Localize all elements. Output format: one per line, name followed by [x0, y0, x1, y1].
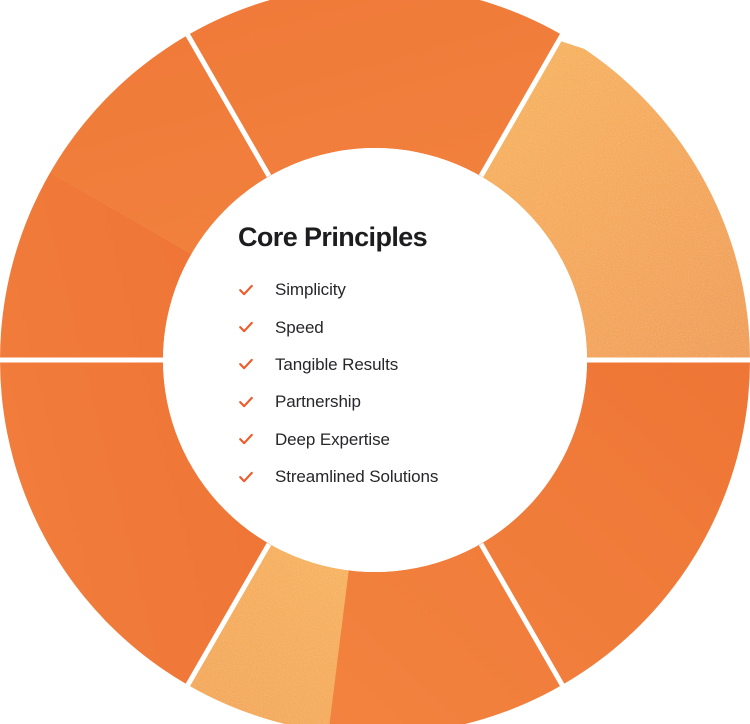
list-item-label: Deep Expertise — [275, 431, 390, 448]
principles-list: Simplicity Speed Tangible Results — [238, 271, 538, 495]
list-item[interactable]: Tangible Results — [238, 346, 538, 383]
check-icon — [238, 431, 254, 447]
check-icon — [238, 282, 254, 298]
list-item[interactable]: Simplicity — [238, 271, 538, 308]
list-item[interactable]: Partnership — [238, 383, 538, 420]
check-icon — [238, 356, 254, 372]
list-item-label: Streamlined Solutions — [275, 468, 438, 485]
list-item[interactable]: Deep Expertise — [238, 421, 538, 458]
donut-infographic: Core Principles Simplicity Speed — [0, 0, 750, 724]
list-item-label: Speed — [275, 319, 324, 336]
list-item-label: Tangible Results — [275, 356, 398, 373]
check-icon — [238, 469, 254, 485]
list-item[interactable]: Speed — [238, 308, 538, 345]
center-panel-content: Core Principles Simplicity Speed — [238, 224, 538, 495]
page-title: Core Principles — [238, 224, 538, 251]
list-item-label: Partnership — [275, 393, 361, 410]
check-icon — [238, 319, 254, 335]
center-panel: Core Principles Simplicity Speed — [163, 148, 587, 572]
list-item[interactable]: Streamlined Solutions — [238, 458, 538, 495]
check-icon — [238, 394, 254, 410]
list-item-label: Simplicity — [275, 281, 346, 298]
